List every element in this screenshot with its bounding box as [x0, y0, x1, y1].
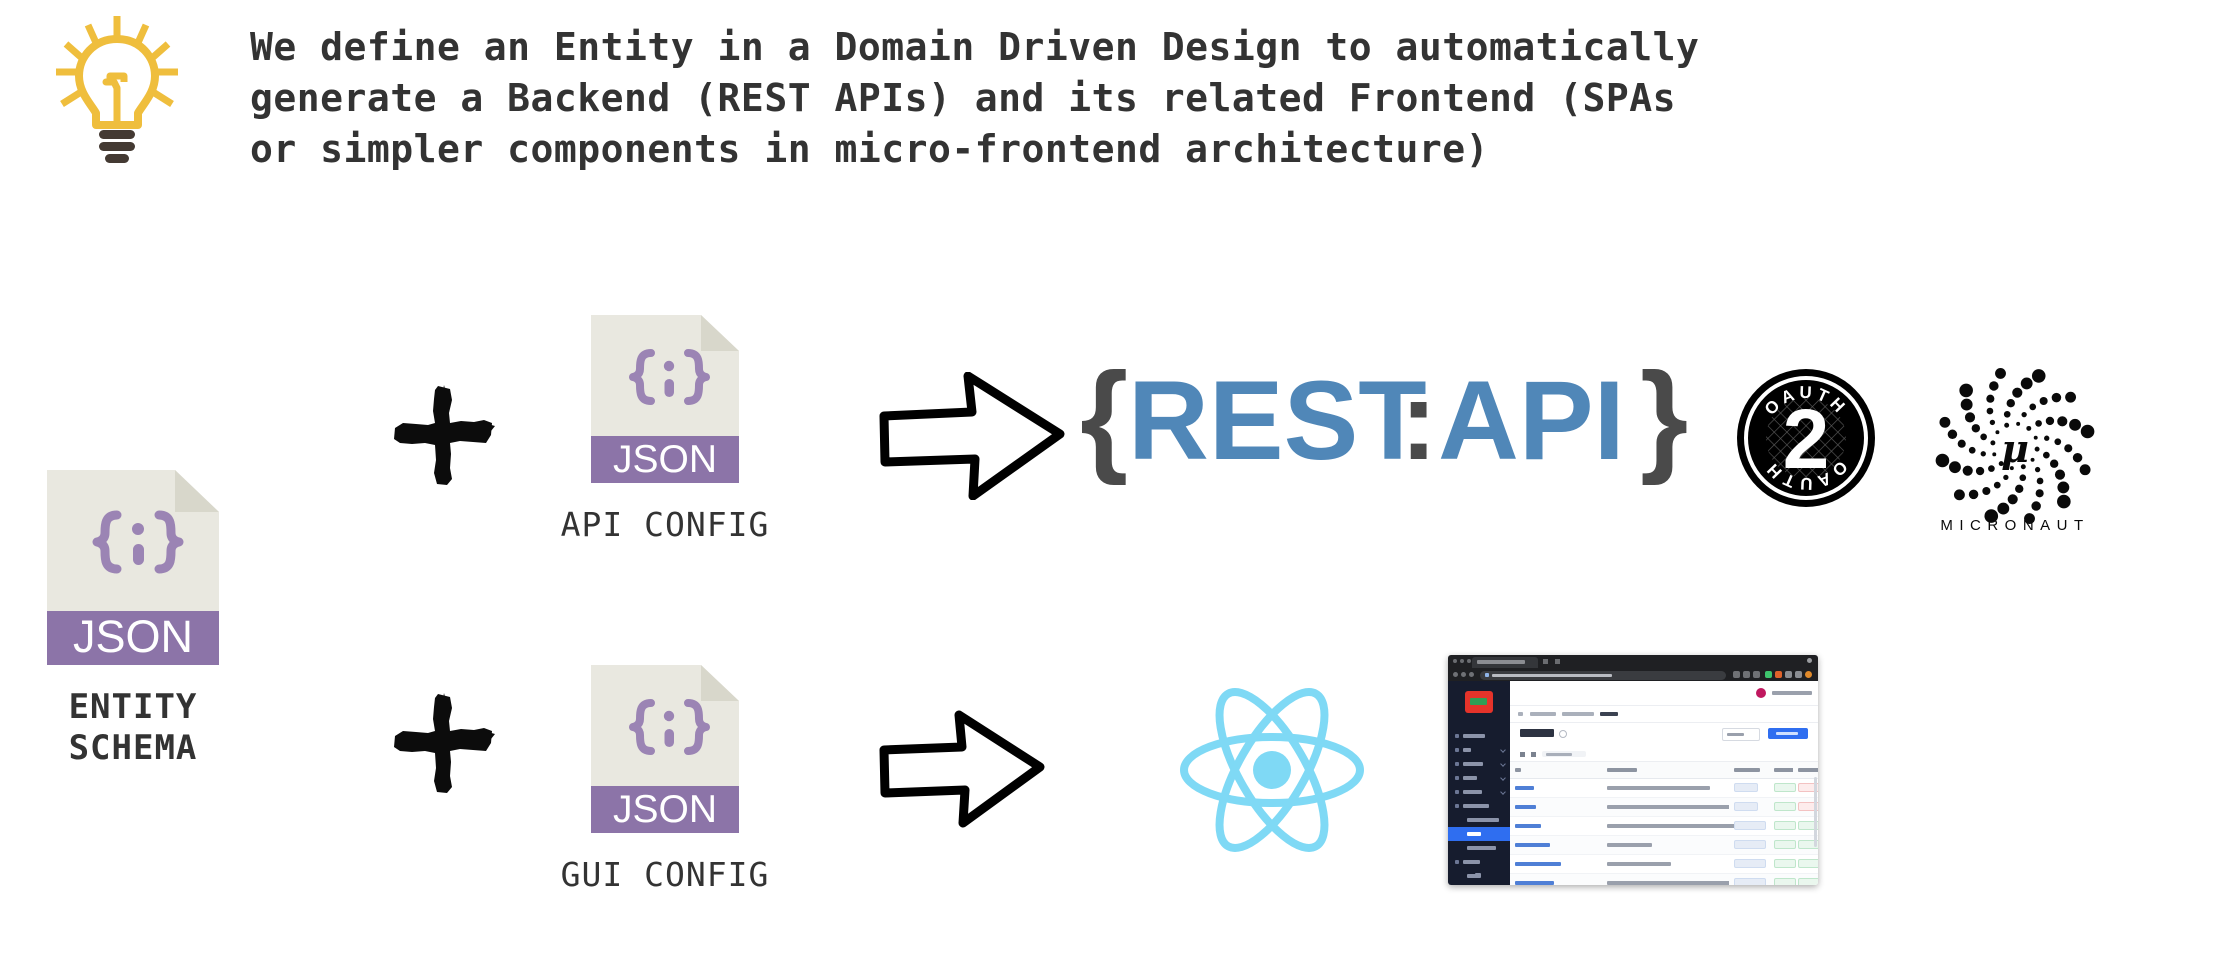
extension-icon-5[interactable] [1775, 671, 1782, 678]
extension-icon-6[interactable] [1785, 671, 1792, 678]
micronaut-logo: μ MICRONAUT MICRONAUT [1920, 358, 2110, 548]
action-type-chip [1734, 859, 1766, 868]
cell-description [1602, 836, 1728, 855]
actions-menu-button[interactable] [1722, 728, 1760, 741]
sidebar-item-label [1463, 776, 1477, 780]
sidebar-item-icon [1455, 804, 1459, 808]
row-id-link[interactable] [1515, 881, 1554, 885]
rest-api-text-open: { [1690, 355, 1691, 356]
cell-description [1602, 798, 1728, 817]
extension-icon-3[interactable] [1753, 671, 1760, 678]
chevron-right-icon [1500, 747, 1506, 753]
chevron-right-icon [1500, 761, 1506, 767]
status-badge [1774, 802, 1796, 811]
sidebar-item[interactable] [1448, 743, 1510, 757]
col-enabled[interactable] [1769, 762, 1794, 779]
search-input[interactable] [1542, 751, 1586, 757]
cell-description [1602, 817, 1728, 836]
info-icon[interactable] [1559, 730, 1567, 738]
cell-enabled [1769, 817, 1794, 836]
extension-icon-4[interactable] [1765, 671, 1772, 678]
table-row[interactable] [1510, 779, 1818, 798]
sidebar-item-label [1463, 860, 1480, 864]
actions-table [1510, 761, 1818, 885]
entity-schema-json-file-icon: JSON JSON [47, 470, 219, 665]
status-badge [1774, 859, 1796, 868]
table-row[interactable] [1510, 836, 1818, 855]
cell-id[interactable] [1510, 798, 1602, 817]
status-badge [1774, 821, 1796, 830]
sidebar-item-label [1463, 790, 1482, 794]
table-row[interactable] [1510, 855, 1818, 874]
cell-id[interactable] [1510, 836, 1602, 855]
rest-api-text-colon: : [1690, 355, 1691, 356]
app-logo [1465, 691, 1493, 713]
col-description[interactable] [1602, 762, 1728, 779]
table-row[interactable] [1510, 817, 1818, 836]
sidebar-item[interactable] [1448, 855, 1510, 869]
rest-api-text-rest: REST [1690, 355, 1691, 356]
sidebar-item[interactable] [1448, 813, 1510, 827]
status-badge [1774, 840, 1796, 849]
sidebar-item-icon [1455, 790, 1459, 794]
cell-id[interactable] [1510, 874, 1602, 886]
cell-enabled [1769, 779, 1794, 798]
tab-list-button[interactable] [1555, 659, 1560, 664]
rest-api-logo: { REST : API } { REST : API } [1080, 355, 1690, 485]
extension-icon-7[interactable] [1795, 671, 1802, 678]
browser-menu-icon[interactable] [1807, 658, 1812, 663]
api-word: API [1438, 358, 1625, 483]
cell-autofound [1793, 855, 1818, 874]
sidebar-item-icon [1455, 776, 1459, 780]
table-scrollbar[interactable] [1814, 777, 1817, 847]
action-type-chip [1734, 840, 1766, 849]
header-banner: We define an Entity in a Domain Driven D… [0, 0, 2234, 210]
svg-text:JSON: JSON [613, 788, 717, 831]
row-description [1607, 843, 1652, 847]
arrow-right-icon-api [876, 372, 1066, 500]
micronaut-wordmark-svg: MICRONAUT [1940, 517, 2089, 534]
sidebar-item-label [1467, 846, 1496, 850]
plus-api-label: + [500, 380, 501, 381]
svg-text:2: 2 [1783, 392, 1830, 486]
row-description [1607, 786, 1710, 790]
cell-enabled [1769, 874, 1794, 886]
rest-colon: : [1400, 358, 1437, 483]
cell-description [1602, 874, 1728, 886]
action-type-chip [1734, 821, 1766, 830]
cell-autofound [1793, 874, 1818, 886]
cell-action-type [1729, 817, 1769, 836]
admin-app-screenshot[interactable] [1448, 655, 1818, 885]
cell-enabled [1769, 798, 1794, 817]
browser-chrome [1448, 655, 1818, 681]
entity-schema-input: JSON JSON ENTITY SCHEMA [18, 470, 248, 769]
row-id-link[interactable] [1515, 824, 1541, 828]
extension-icon-1[interactable] [1733, 671, 1740, 678]
sidebar-item[interactable] [1448, 771, 1510, 785]
col-action-type[interactable] [1729, 762, 1769, 779]
status-badge [1774, 783, 1796, 792]
cell-description [1602, 779, 1728, 798]
table-row[interactable] [1510, 798, 1818, 817]
status-badge [1798, 859, 1818, 868]
sidebar-collapse[interactable] [1448, 869, 1510, 881]
action-type-chip [1734, 802, 1758, 811]
svg-text:JSON: JSON [73, 611, 193, 662]
browser-tab[interactable] [1472, 657, 1538, 668]
extension-icon-2[interactable] [1743, 671, 1750, 678]
row-description [1607, 824, 1746, 828]
sidebar-item-label [1463, 748, 1471, 752]
chevron-right-icon [1500, 789, 1506, 795]
cell-action-type [1729, 798, 1769, 817]
settings-icon[interactable] [1520, 752, 1525, 757]
sidebar-item-list [1448, 729, 1510, 885]
status-badge [1774, 878, 1796, 885]
row-id-link[interactable] [1515, 786, 1534, 790]
react-logo-icon [1172, 680, 1372, 860]
sidebar-item-icon [1455, 734, 1459, 738]
sidebar-item-icon [1455, 860, 1459, 864]
status-badge [1798, 878, 1818, 885]
app-main [1510, 681, 1818, 885]
cell-id[interactable] [1510, 817, 1602, 836]
row-description [1607, 881, 1733, 885]
avatar[interactable] [1756, 688, 1766, 698]
profile-avatar-icon[interactable] [1805, 671, 1812, 678]
api-config-label: API CONFIG [530, 505, 800, 544]
lock-icon [1485, 673, 1489, 677]
oauth2-badge-icon: OAUTH OAUTH 2 OAUTH OAUTH 2 [1736, 368, 1876, 508]
rest-open-brace: { [1080, 355, 1128, 485]
plus-operator-gui: + [388, 688, 500, 800]
browser-tab-bar [1448, 655, 1818, 668]
reload-icon[interactable] [1469, 672, 1474, 677]
col-id[interactable] [1510, 762, 1602, 779]
cell-action-type [1729, 836, 1769, 855]
sidebar-item-icon [1455, 762, 1459, 766]
app-sidebar [1448, 681, 1510, 885]
sidebar-item-label [1467, 818, 1499, 822]
user-name [1772, 691, 1812, 695]
new-tab-button[interactable] [1543, 659, 1548, 664]
page-title [1520, 729, 1554, 737]
cell-id[interactable] [1510, 855, 1602, 874]
row-id-link[interactable] [1515, 862, 1561, 866]
browser-url-bar [1448, 668, 1818, 681]
sidebar-item[interactable] [1448, 827, 1510, 841]
sidebar-item[interactable] [1448, 841, 1510, 855]
row-description [1607, 862, 1670, 866]
sidebar-item-label [1463, 734, 1485, 738]
table-header-row [1510, 762, 1818, 779]
action-type-chip [1734, 878, 1766, 885]
forward-icon[interactable] [1461, 672, 1466, 677]
page-header [1510, 723, 1818, 747]
api-config-input: JSON JSON API CONFIG [530, 315, 800, 544]
row-id-link[interactable] [1515, 805, 1536, 809]
cell-enabled [1769, 836, 1794, 855]
cell-action-type [1729, 874, 1769, 886]
cell-id[interactable] [1510, 779, 1602, 798]
page-headline: We define an Entity in a Domain Driven D… [250, 22, 2180, 175]
sidebar-item[interactable] [1448, 785, 1510, 799]
new-button[interactable] [1768, 728, 1808, 739]
window-controls[interactable] [1453, 659, 1471, 663]
plus-gui-label: + [500, 688, 501, 689]
oauth-bottom-text: OAUTH [1876, 368, 1877, 369]
rest-api-text-close: } [1690, 355, 1691, 356]
arrow-right-icon-gui [876, 710, 1046, 828]
sidebar-item-label [1463, 762, 1483, 766]
chevron-right-icon [1500, 775, 1506, 781]
rest-close-brace: } [1640, 355, 1688, 485]
col-autofound-enabled[interactable] [1793, 762, 1818, 779]
sidebar-item-icon [1455, 748, 1459, 752]
oauth-number: 2 [1876, 368, 1877, 369]
cell-description [1602, 855, 1728, 874]
table-row[interactable] [1510, 874, 1818, 886]
svg-text:JSON: JSON [613, 438, 717, 481]
lightbulb-icon [52, 12, 182, 172]
app-topbar [1510, 681, 1818, 706]
back-icon[interactable] [1453, 672, 1458, 677]
filter-icon[interactable] [1531, 752, 1536, 757]
api-config-json-file-icon: JSON JSON [591, 315, 739, 483]
row-id-link[interactable] [1515, 843, 1550, 847]
url-input[interactable] [1480, 671, 1726, 680]
plus-operator-api: + [388, 380, 500, 492]
sidebar-item[interactable] [1448, 757, 1510, 771]
entity-schema-label: ENTITY SCHEMA [18, 687, 248, 769]
sidebar-item[interactable] [1448, 883, 1510, 885]
gui-config-input: JSON JSON GUI CONFIG [530, 665, 800, 894]
cell-enabled [1769, 855, 1794, 874]
action-type-chip [1734, 783, 1758, 792]
micronaut-wordmark: MICRONAUT [2110, 358, 2111, 359]
sidebar-item[interactable] [1448, 729, 1510, 743]
cell-action-type [1729, 779, 1769, 798]
gui-config-json-file-icon: JSON JSON [591, 665, 739, 833]
rest-word: REST [1128, 358, 1427, 483]
micronaut-mu-symbol: μ [2001, 426, 2029, 471]
table-toolbar [1510, 747, 1818, 761]
breadcrumb [1510, 706, 1818, 723]
sidebar-item-label [1463, 804, 1489, 808]
sidebar-item[interactable] [1448, 799, 1510, 813]
app-body [1448, 681, 1818, 885]
cell-action-type [1729, 855, 1769, 874]
gui-config-label: GUI CONFIG [530, 855, 800, 894]
sidebar-item-label [1467, 832, 1481, 836]
rest-api-text-api: API [1690, 355, 1691, 356]
oauth-top-text: OAUTH [1876, 368, 1877, 369]
